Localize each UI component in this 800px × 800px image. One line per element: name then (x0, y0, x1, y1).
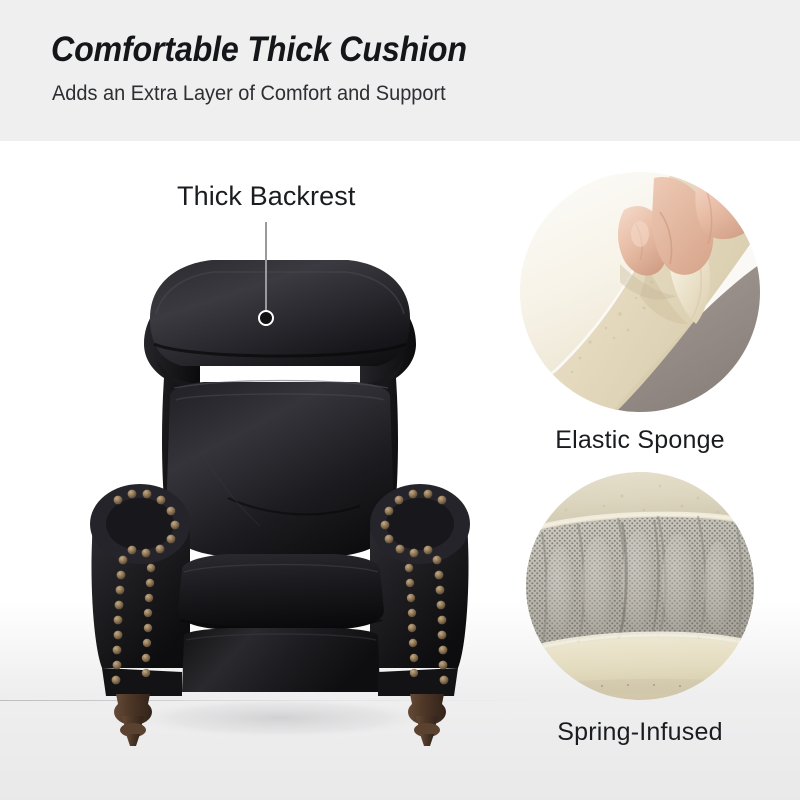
chair-front-panel (182, 628, 380, 692)
pocket-coil-springs-photo (526, 472, 754, 700)
page-subtitle: Adds an Extra Layer of Comfort and Suppo… (52, 82, 446, 106)
header-band (0, 0, 800, 141)
chair-back-cushion (166, 382, 394, 556)
feature-spring-infused: Spring-Infused (490, 472, 790, 747)
feature-elastic-sponge: Elastic Sponge (490, 172, 790, 455)
page-title: Comfortable Thick Cushion (51, 30, 467, 70)
chair-seat-cushion (178, 554, 384, 630)
hand-pinching-foam-photo (520, 172, 760, 412)
callout-marker-dot (258, 310, 274, 326)
product-image-recliner (78, 248, 482, 746)
chair-leg-left (114, 694, 152, 746)
infographic-page: Comfortable Thick Cushion Adds an Extra … (0, 0, 800, 800)
callout-label-thick-backrest: Thick Backrest (177, 181, 355, 212)
callout-leader-line (265, 222, 267, 317)
feature-caption-elastic-sponge: Elastic Sponge (490, 426, 790, 455)
feature-caption-spring-infused: Spring-Infused (490, 718, 790, 747)
chair-leg-right (408, 694, 446, 746)
